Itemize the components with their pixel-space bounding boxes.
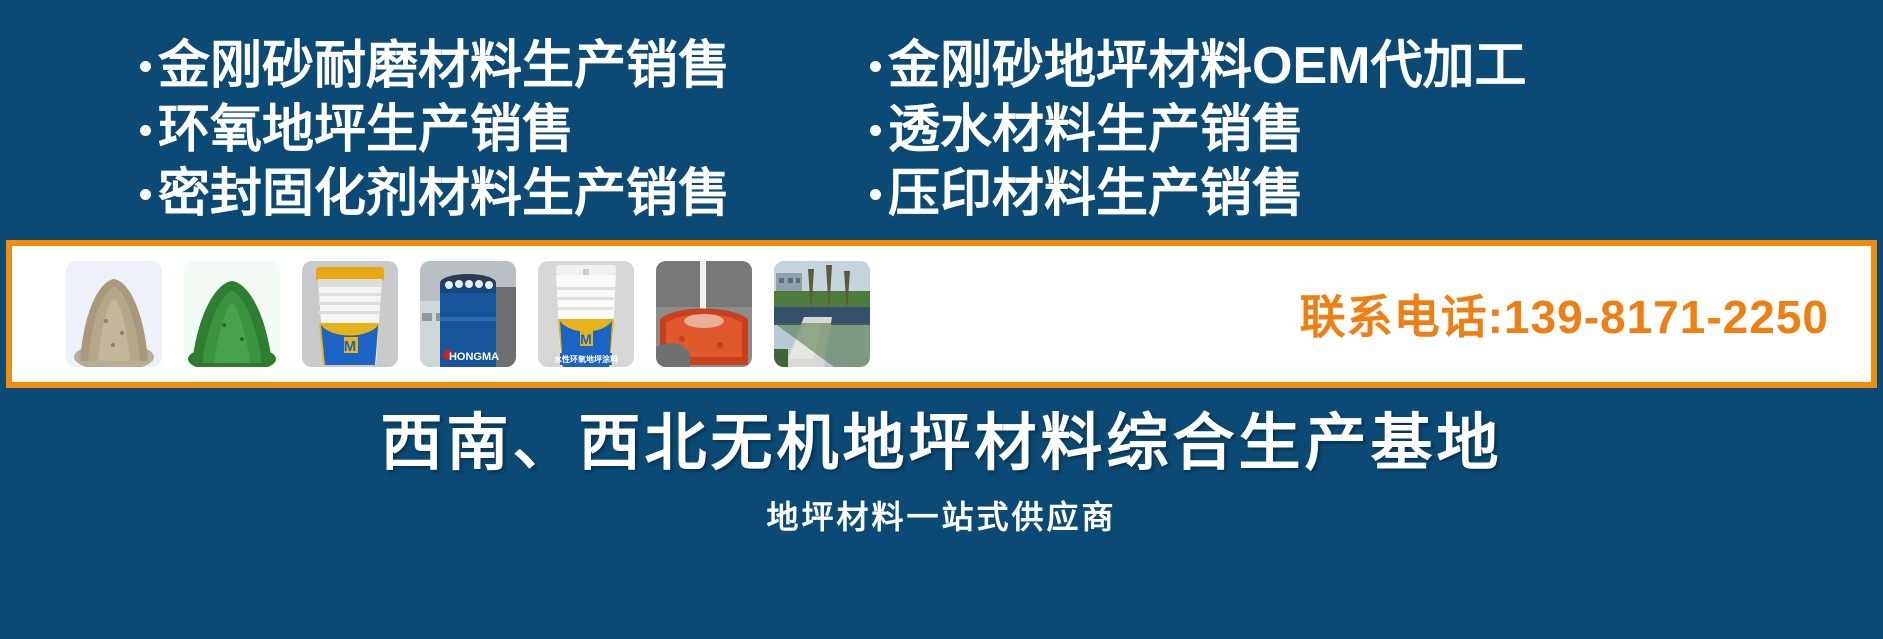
feature-column-left: 金刚砂耐磨材料生产销售 环氧地坪生产销售 密封固化剂材料生产销售 (0, 36, 860, 240)
bullet-dot-icon (140, 189, 151, 200)
feature-item: 金刚砂耐磨材料生产销售 (140, 36, 860, 96)
feature-item: 透水材料生产销售 (870, 100, 1883, 160)
contact-phone-text: 联系电话:139-8171-2250 (1300, 291, 1829, 343)
product-thumbnail-list: M (18, 261, 870, 367)
feature-item: 金刚砂地坪材料OEM代加工 (870, 36, 1883, 96)
thumb-epoxy-bucket[interactable]: M 水性环氧地坪涂料 (538, 261, 634, 367)
thumb-grey-powder[interactable] (66, 261, 162, 367)
feature-item: 压印材料生产销售 (870, 164, 1883, 224)
headline: 西南、西北无机地坪材料综合生产基地 (380, 408, 1502, 480)
svg-text:HONGMA: HONGMA (449, 351, 499, 363)
subline: 地坪材料一站式供应商 (766, 492, 1116, 538)
feature-list: 金刚砂耐磨材料生产销售 环氧地坪生产销售 密封固化剂材料生产销售 金刚砂地坪材料… (0, 0, 1883, 240)
bullet-dot-icon (870, 61, 881, 72)
feature-label: 金刚砂地坪材料OEM代加工 (888, 36, 1526, 96)
bullet-dot-icon (140, 125, 151, 136)
product-strip-wrapper: M (0, 240, 1883, 390)
feature-label: 密封固化剂材料生产销售 (158, 164, 730, 224)
thumb-green-powder[interactable] (184, 261, 280, 367)
svg-text:M: M (344, 338, 357, 355)
feature-label: 透水材料生产销售 (888, 100, 1304, 160)
thumb-permeable-path[interactable] (774, 261, 870, 367)
feature-label: 压印材料生产销售 (888, 164, 1304, 224)
svg-text:M: M (580, 331, 592, 347)
bullet-dot-icon (870, 125, 881, 136)
thumb-red-stamped-floor[interactable] (656, 261, 752, 367)
promo-banner: 金刚砂耐磨材料生产销售 环氧地坪生产销售 密封固化剂材料生产销售 金刚砂地坪材料… (0, 0, 1883, 639)
thumb-white-bucket[interactable]: M (302, 261, 398, 367)
svg-text:水性环氧地坪涂料: 水性环氧地坪涂料 (553, 354, 618, 364)
bullet-dot-icon (140, 61, 151, 72)
product-strip: M (6, 240, 1877, 388)
feature-item: 环氧地坪生产销售 (140, 100, 860, 160)
feature-label: 环氧地坪生产销售 (158, 100, 574, 160)
feature-column-right: 金刚砂地坪材料OEM代加工 透水材料生产销售 压印材料生产销售 (860, 36, 1883, 240)
contact-phone[interactable]: 联系电话:139-8171-2250 (1300, 281, 1865, 347)
feature-label: 金刚砂耐磨材料生产销售 (158, 36, 730, 96)
bullet-dot-icon (870, 189, 881, 200)
bottom-section: 西南、西北无机地坪材料综合生产基地 地坪材料一站式供应商 (0, 390, 1883, 639)
feature-item: 密封固化剂材料生产销售 (140, 164, 860, 224)
thumb-blue-drum[interactable]: HONGMA (420, 261, 516, 367)
